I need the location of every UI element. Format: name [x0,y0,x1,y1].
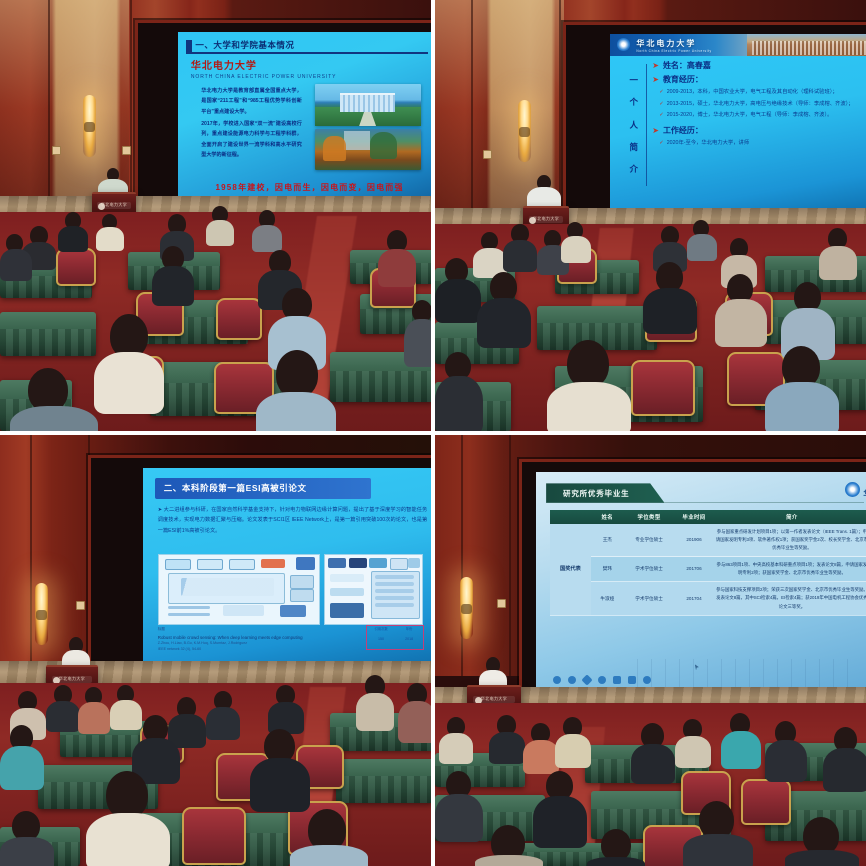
audience-table [0,312,96,356]
more-icon[interactable] [643,676,651,684]
audience-member [555,717,589,765]
profile-list: ➤姓名：高春嘉 ➤教育经历： ✓2009-2013，本科，中国农业大学，电气工程… [652,60,866,151]
university-logo-icon [845,482,860,497]
projected-slide: 二、本科阶段第一篇ESI高被引论文 ➤ 大二进组参与科研，在国家自然科学基金支持… [143,468,431,672]
audience-member [785,817,855,866]
audience-member [631,723,673,779]
slide-divider [646,64,647,186]
eraser-icon[interactable] [613,676,621,684]
slide-side-label: 一 个 人 简 介 [625,64,643,186]
wall-sconce [35,583,48,645]
audience-member [687,220,715,258]
wall-outlet [76,601,85,610]
photo-collage: 一、大学和学院基本情况 华北电力大学 NORTH CHINA ELECTRIC … [0,0,866,866]
audience-member [268,685,302,731]
audience-member [58,212,88,250]
lecture-hall-room: 一、大学和学院基本情况 华北电力大学 NORTH CHINA ELECTRIC … [0,0,431,431]
projected-slide: 研究所优秀毕业生 华 姓名 [536,472,866,700]
audience-member [715,274,765,344]
cell-name: 樊玮 [591,557,623,582]
wall-sconce [83,95,96,157]
projector-screen-frame: 一、大学和学院基本情况 华北电力大学 NORTH CHINA ELECTRIC … [135,20,431,216]
wall-outlet [52,146,61,155]
profile-item-work-1: ✓2020年-至今，华北电力大学，讲师 [652,139,866,149]
projected-slide: 华北电力大学 North China Electric Power Univer… [610,34,866,219]
wall-outlet [483,150,492,159]
audience-member [503,224,535,268]
citation-source: IEEE network 32 (4), 54-60 [158,647,365,653]
col-graduation: 毕业时间 [675,510,714,524]
header-university-name: 华北电力大学 North China Electric Power Univer… [636,38,711,53]
profile-item-education-3: ✓2015-2020，博士，华北电力大学，电气工程（导师：李成榕、齐波）。 [652,111,866,121]
audience-chair [56,248,96,286]
audience-member [523,723,557,771]
panel-bottom-left: 二、本科阶段第一篇ESI高被引论文 ➤ 大二进组参与科研，在国家自然科学基金支持… [0,435,431,866]
graduates-table: 姓名 学位类型 毕业时间 简介 国奖代表 王杰 专业学位 [550,510,866,616]
audience-member [290,809,364,866]
wood-seam [461,435,463,676]
audience-member [819,228,855,276]
slide-body-text: ➤ 大二进组参与科研，在国家自然科学基金支持下，针对电力物联网边缘计算问题，提出… [158,505,427,536]
wood-seam [509,435,511,676]
audience-member [78,687,108,731]
audience-member [10,368,90,431]
projected-slide: 一、大学和学院基本情况 华北电力大学 NORTH CHINA ELECTRIC … [178,32,431,206]
university-name-cn: 华北电力大学 [191,57,257,72]
pen-icon[interactable] [581,674,592,685]
wall-outlet [497,599,506,608]
audience-member [781,282,833,356]
audience-member [435,258,479,320]
table-row: 樊玮 学术学位硕士 201706 参与863项目1项、中央高校基本科研重点项目1… [550,557,866,582]
audience-member [477,272,529,344]
audience-member [489,715,523,761]
slide-section-title-box: 二、本科阶段第一篇ESI高被引论文 [155,478,371,498]
audience-table [336,759,431,803]
audience-member [378,230,416,282]
projector-screen-frame: 华北电力大学 North China Electric Power Univer… [563,22,866,228]
panel-top-right: 华北电力大学 North China Electric Power Univer… [435,0,866,431]
lecture-hall-room: 二、本科阶段第一篇ESI高被引论文 ➤ 大二进组参与科研，在国家自然科学基金支持… [0,435,431,866]
cell-graduation: 201706 [675,557,714,582]
table-row: 牛淑娅 学术学位硕士 201704 参与国家科技支撑项目2项；荣获三次国家奖学金… [550,582,866,615]
audience-member [256,350,336,431]
col-name: 姓名 [591,510,623,524]
slide-slogan: 1958年建校，因电而生，因电而变，因电而强 [193,182,425,193]
cell-profile: 参与国家科技支撑项目2项；荣获三次国家奖学金、北京市优秀毕业生等奖励。发表论文8… [713,582,866,615]
audience-member [152,246,194,302]
audience-chair [216,298,262,340]
audience-member [675,719,709,765]
cell-graduation: 201704 [675,582,714,615]
metrics-values: 150 2018 [367,637,423,647]
podium-plaque: 华北电力大学 [529,216,564,223]
figure-architecture-diagram [158,554,320,625]
citation-metrics-box: 引用次数 年份 150 2018 [366,625,424,649]
audience-member [206,691,238,737]
col-profile: 简介 [713,510,866,524]
audience-member [475,825,541,866]
university-name-en: NORTH CHINA ELECTRIC POWER UNIVERSITY [191,74,336,80]
audience-member [823,727,866,787]
table-header-row: 姓名 学位类型 毕业时间 简介 [550,510,866,524]
figure-journal-screenshots [324,554,424,625]
panel-bottom-right: 研究所优秀毕业生 华 姓名 [435,435,866,866]
audience-member [250,729,308,807]
slide-section-title: 一、大学和学院基本情况 [195,39,294,51]
cell-degree: 学术学位硕士 [623,557,674,582]
cell-profile: 参与863项目1项、中央高校基本科研重点项目1项；发表论文8篇，申请国家发明专利… [713,557,866,582]
slide-title-bar: 一、大学和学院基本情况 [186,38,429,54]
slide-paragraph-1: 华北电力大学是教育部直属全国重点大学，是国家“211工程”和“985工程优势学科… [201,86,302,117]
slide-ribbon-title: 研究所优秀毕业生 [546,483,664,502]
audience-member [404,300,431,362]
cell-graduation: 201906 [675,524,714,557]
wood-seam [30,435,32,676]
audience-member [439,717,471,761]
projector-screen-frame: 研究所优秀毕业生 华 姓名 [519,459,866,709]
audience-member [721,713,759,765]
lecture-hall-room: 华北电力大学 North China Electric Power Univer… [435,0,866,431]
profile-item-education-2: ✓2013-2015，硕士，华北电力大学，高电压与绝缘技术（导师：李成榕、齐波）… [652,100,866,110]
university-logo-icon [617,38,630,51]
audience-member [206,206,234,242]
profile-item-name: ➤姓名：高春嘉 [652,60,866,71]
profile-item-education-heading: ➤教育经历： [652,74,866,85]
audience-member [46,685,78,729]
note-icon[interactable] [628,676,636,684]
col-group [550,510,592,524]
audience-chair [182,807,246,865]
audience-member [0,811,52,866]
audience-member [765,346,835,431]
header-building-photo [747,34,866,56]
prev-icon[interactable] [553,676,561,684]
audience-member [683,801,749,866]
audience-member [96,214,124,248]
wall-outlet [122,146,131,155]
audience-chair [631,360,695,416]
audience-member [356,675,392,727]
citation-block: 标题 Robust mobile crowd sensing: When dee… [158,627,365,652]
cell-degree: 专业学位硕士 [623,524,674,557]
audience-member [86,771,166,866]
citation-label: 标题 [158,627,365,633]
audience-member [561,222,589,260]
ribbon-underline [546,502,864,503]
campus-photo-autumn [315,129,421,171]
audience-member [765,721,805,777]
audience-member [435,352,481,431]
audience-member [587,829,643,866]
audience-member [398,683,431,739]
audience-member [0,725,42,787]
citation-title: Robust mobile crowd sensing: When deep l… [158,634,365,641]
table-row: 国奖代表 王杰 专业学位硕士 201906 参与国家重点研发计划项目1项；以第一… [550,524,866,557]
audience-member [643,262,695,330]
cell-profile: 参与国家重点研发计划项目1项；以第一作者发表论文（IEEE Trans. 1篇）… [713,524,866,557]
next-icon[interactable] [568,676,576,684]
lecture-hall-room: 研究所优秀毕业生 华 姓名 [435,435,866,866]
projector-screen-frame: 二、本科阶段第一篇ESI高被引论文 ➤ 大二进组参与科研，在国家自然科学基金支持… [88,455,431,681]
cell-degree: 学术学位硕士 [623,582,674,615]
audience-member [547,340,627,431]
podium-plaque: 华北电力大学 [97,202,130,209]
profile-item-education-1: ✓2009-2013，本科，中国农业大学，电气工程及其自动化（理科试验班）； [652,88,866,98]
wood-seam [471,0,473,241]
audience-member [94,314,164,410]
wall-sconce [460,577,473,639]
audience-member [0,234,30,278]
highlighter-icon[interactable] [598,676,606,684]
cell-group-label: 国奖代表 [550,524,592,616]
panel-top-left: 一、大学和学院基本情况 华北电力大学 NORTH CHINA ELECTRIC … [0,0,431,431]
cell-name: 王杰 [591,524,623,557]
col-degree: 学位类型 [623,510,674,524]
cell-name: 牛淑娅 [591,582,623,615]
audience-member [252,210,282,248]
metrics-headers: 引用次数 年份 [367,626,423,636]
wall-sconce [518,100,531,162]
presentation-toolbar[interactable] [553,676,651,684]
slide-paragraph-2: 2017年，学校进入国家“双一流”建设高校行列，重点建设能源电力科学与工程学科群… [201,119,302,161]
slide-header: 华北电力大学 North China Electric Power Univer… [610,34,866,56]
profile-item-work-heading: ➤工作经历： [652,125,866,136]
campus-photo-main-building [315,84,421,126]
